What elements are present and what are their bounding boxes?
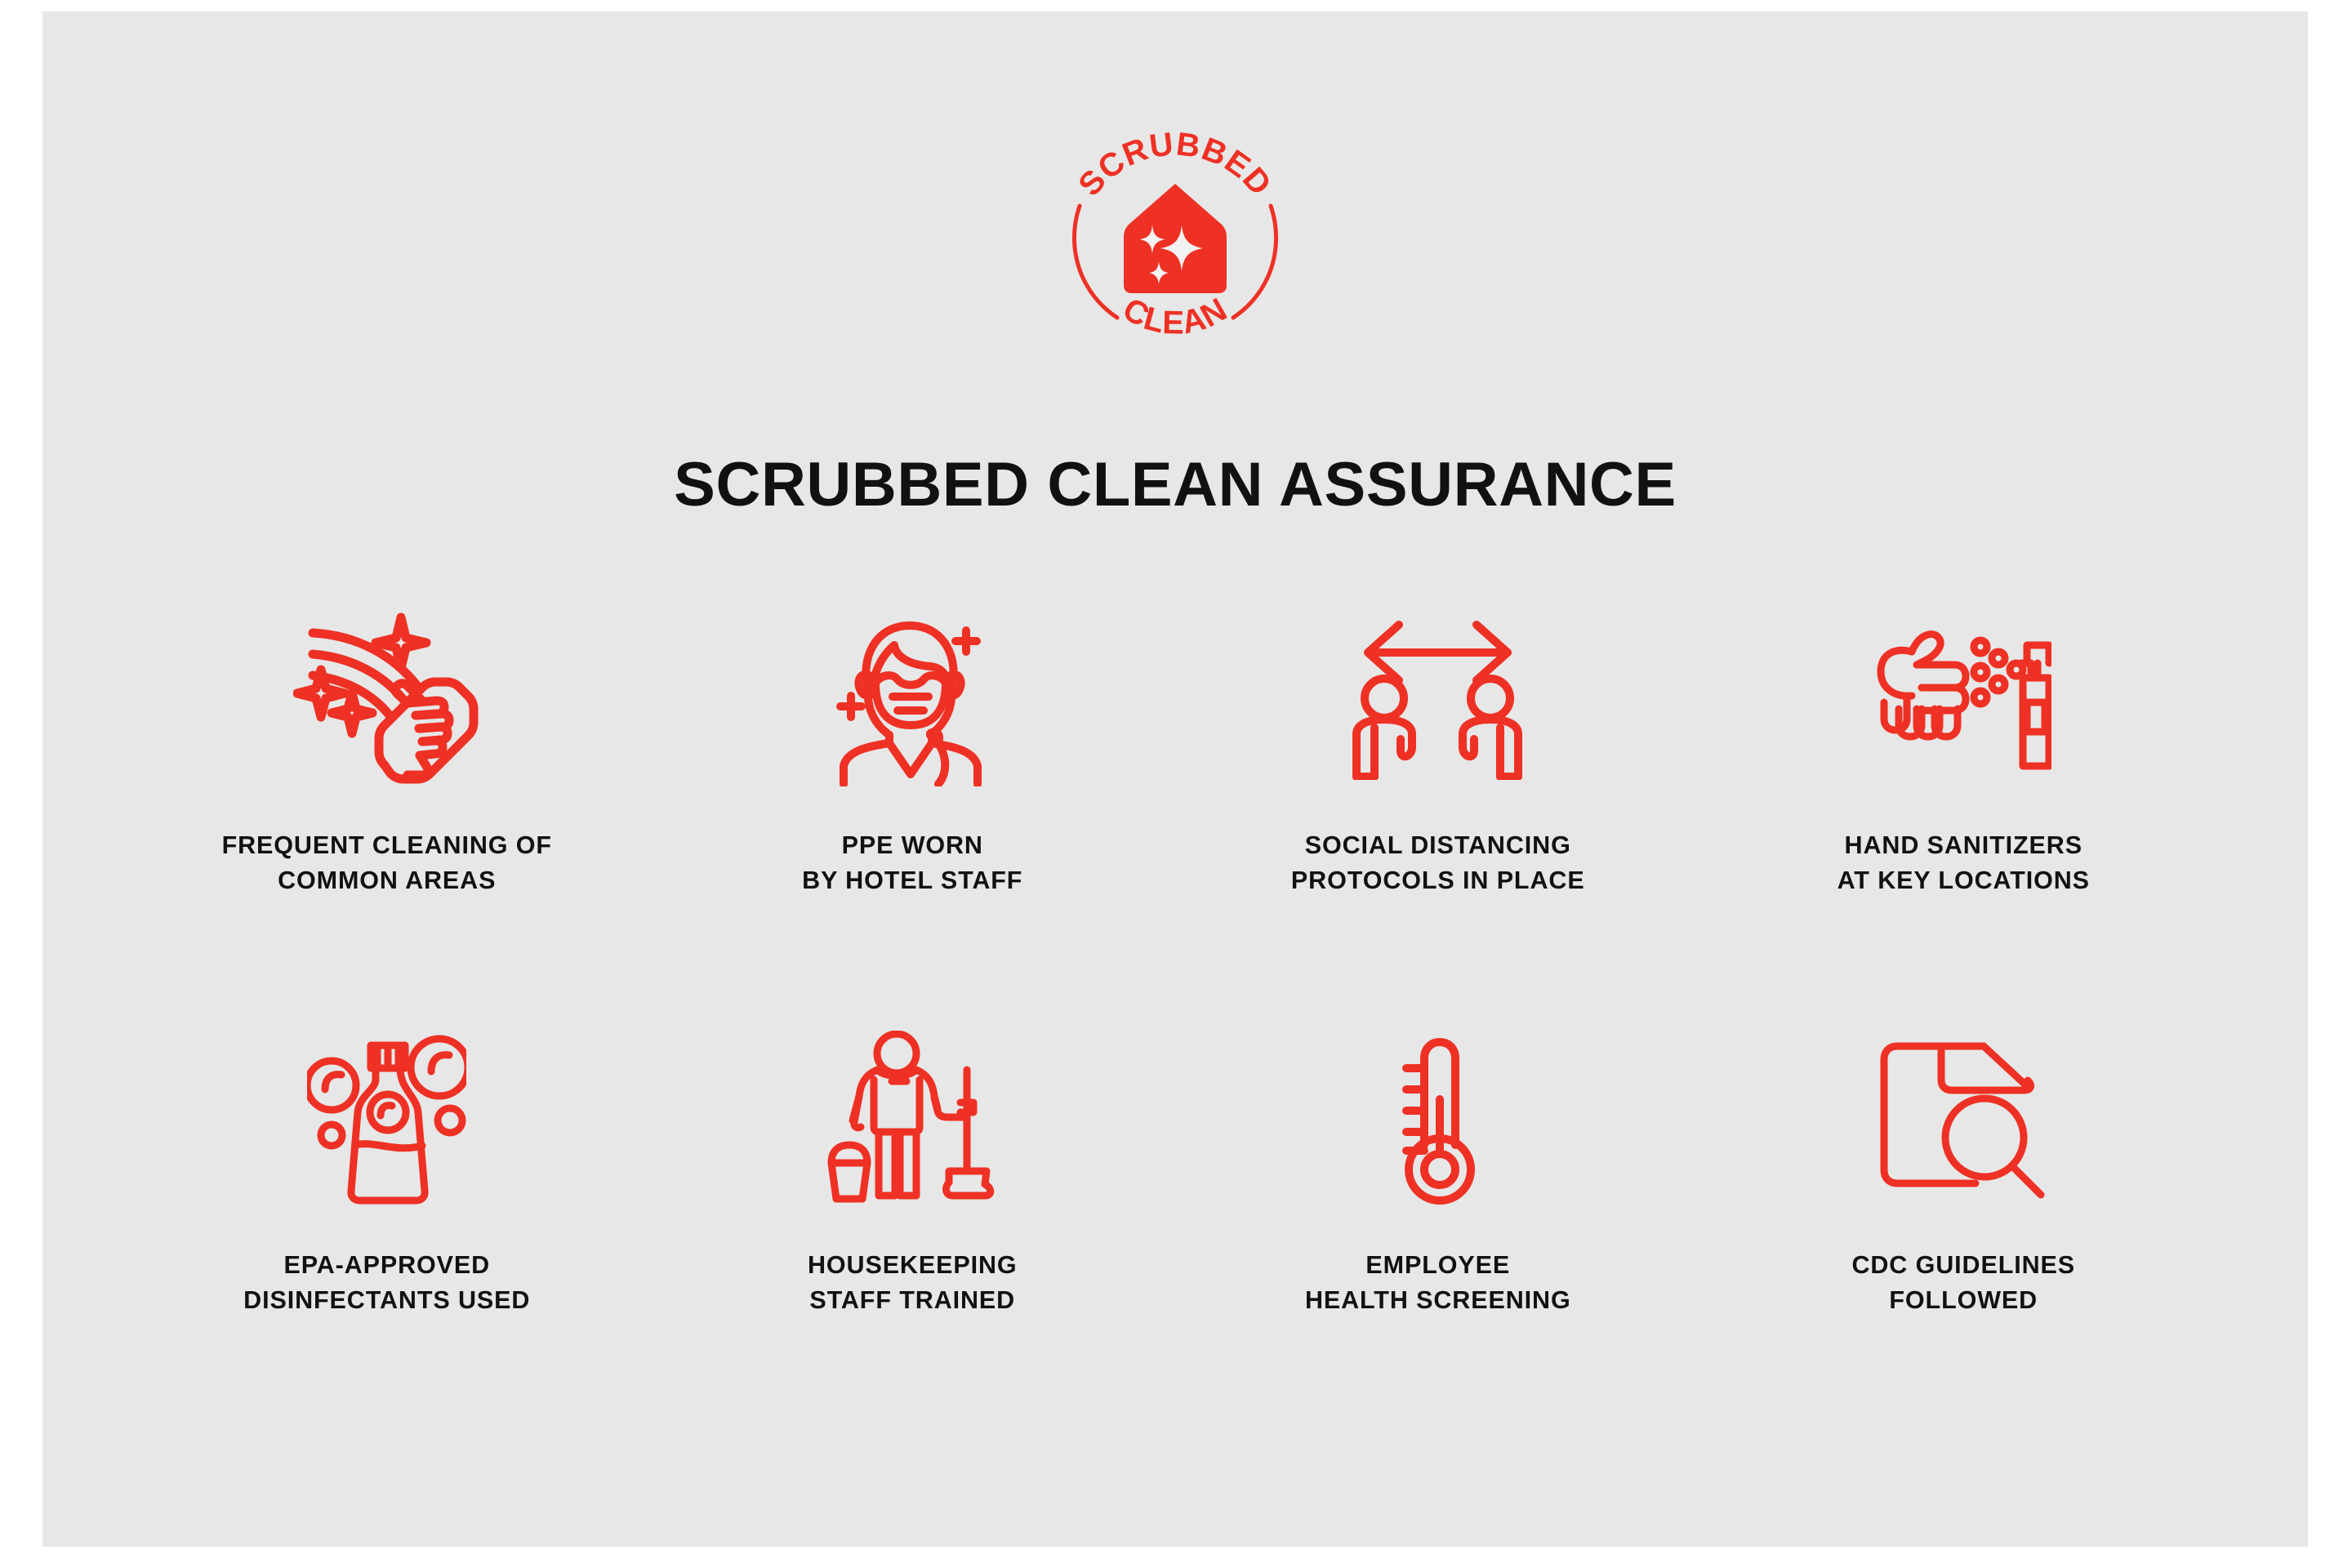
feature-item-frequent-cleaning: FREQUENT CLEANING OFCOMMON AREAS (124, 596, 650, 1016)
feature-caption: EPA-APPROVEDDISINFECTANTS USED (243, 1248, 530, 1319)
feature-item-housekeeping: HOUSEKEEPINGSTAFF TRAINED (650, 1016, 1176, 1436)
feature-item-health-screening: EMPLOYEEHEALTH SCREENING (1175, 1016, 1701, 1436)
masked-staff-icon (831, 596, 994, 800)
document-magnifier-icon (1876, 1016, 2051, 1220)
caption-line-2: BY HOTEL STAFF (802, 866, 1022, 894)
caption-line-2: STAFF TRAINED (809, 1286, 1015, 1314)
feature-grid: FREQUENT CLEANING OFCOMMON AREAS (124, 596, 2226, 1436)
feature-item-cdc-guidelines: CDC GUIDELINESFOLLOWED (1701, 1016, 2227, 1436)
feature-caption: HOUSEKEEPINGSTAFF TRAINED (808, 1248, 1018, 1319)
scrubbed-clean-logo: SCRUBBED CLEAN (1049, 116, 1302, 369)
feature-item-social-distancing: SOCIAL DISTANCINGPROTOCOLS IN PLACE (1175, 596, 1701, 1016)
feature-caption: FREQUENT CLEANING OFCOMMON AREAS (222, 828, 552, 899)
caption-line-2: AT KEY LOCATIONS (1837, 866, 2090, 894)
page-title: SCRUBBED CLEAN ASSURANCE (42, 449, 2308, 520)
social-distancing-icon (1350, 596, 1526, 800)
house-icon (1124, 184, 1227, 293)
caption-line-1: FREQUENT CLEANING OF (222, 831, 552, 859)
cleaning-cloth-sparkle-icon (293, 596, 481, 800)
feature-caption: PPE WORNBY HOTEL STAFF (802, 828, 1022, 899)
housekeeping-mop-bucket-icon (825, 1016, 1000, 1220)
feature-caption: HAND SANITIZERSAT KEY LOCATIONS (1837, 828, 2090, 899)
caption-line-1: HAND SANITIZERS (1845, 831, 2082, 859)
caption-line-1: HOUSEKEEPING (808, 1251, 1018, 1279)
caption-line-2: HEALTH SCREENING (1305, 1286, 1571, 1314)
assurance-panel: SCRUBBED CLEAN SCRUBBED CLEAN ASSURANCE (42, 11, 2308, 1547)
feature-caption: EMPLOYEEHEALTH SCREENING (1305, 1248, 1571, 1319)
caption-line-2: FOLLOWED (1889, 1286, 2038, 1314)
caption-line-2: COMMON AREAS (278, 866, 496, 894)
caption-line-1: CDC GUIDELINES (1851, 1251, 2075, 1279)
logo-bottom-text: CLEAN (1117, 291, 1234, 341)
svg-text:CLEAN: CLEAN (1117, 291, 1234, 341)
feature-caption: SOCIAL DISTANCINGPROTOCOLS IN PLACE (1291, 828, 1585, 899)
hand-sanitizer-spray-icon (1876, 596, 2051, 800)
caption-line-2: PROTOCOLS IN PLACE (1291, 866, 1585, 894)
disinfectant-bottle-bubbles-icon (307, 1016, 466, 1220)
caption-line-2: DISINFECTANTS USED (243, 1286, 530, 1314)
caption-line-1: PPE WORN (842, 831, 983, 859)
caption-line-1: EMPLOYEE (1365, 1251, 1510, 1279)
feature-item-epa-disinfectants: EPA-APPROVEDDISINFECTANTS USED (124, 1016, 650, 1436)
thermometer-icon (1385, 1016, 1491, 1220)
feature-item-ppe-worn: PPE WORNBY HOTEL STAFF (650, 596, 1176, 1016)
feature-caption: CDC GUIDELINESFOLLOWED (1851, 1248, 2075, 1319)
caption-line-1: SOCIAL DISTANCING (1305, 831, 1571, 859)
feature-item-hand-sanitizers: HAND SANITIZERSAT KEY LOCATIONS (1701, 596, 2227, 1016)
caption-line-1: EPA-APPROVED (283, 1251, 490, 1279)
